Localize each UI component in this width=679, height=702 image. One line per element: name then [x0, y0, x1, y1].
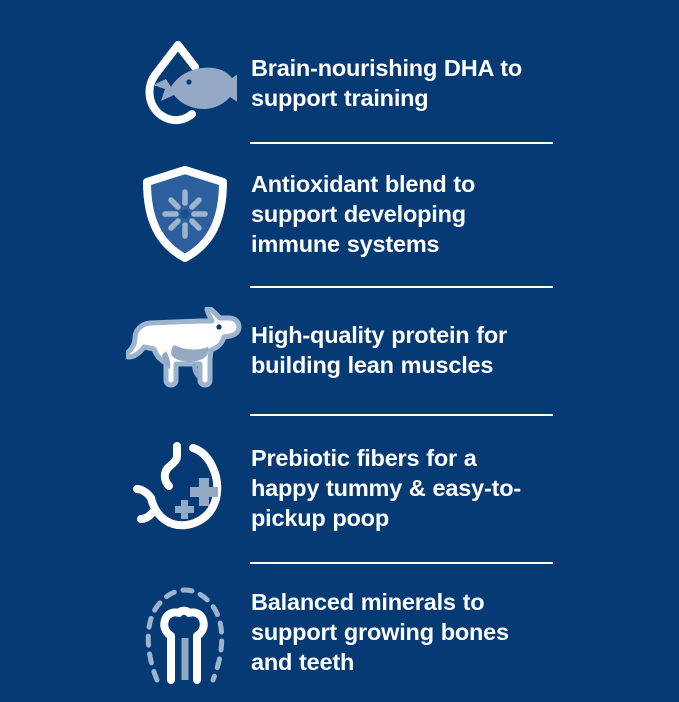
- feature-text-minerals: Balanced minerals to support growing bon…: [251, 587, 551, 677]
- divider-3: [250, 414, 553, 416]
- feature-text-antioxidant: Antioxidant blend to support developing …: [251, 169, 551, 259]
- divider-4: [250, 562, 553, 564]
- icon-cell: [118, 562, 251, 702]
- text-cell: Prebiotic fibers for a happy tummy & eas…: [251, 414, 679, 562]
- stomach-plus-icon: [133, 438, 237, 538]
- shield-burst-icon: [135, 162, 235, 266]
- divider-2: [250, 286, 553, 288]
- icon-cell: [118, 24, 251, 142]
- text-cell: Antioxidant blend to support developing …: [251, 142, 679, 286]
- icon-cell: [118, 414, 251, 562]
- feature-row-dha: Brain-nourishing DHA to support training: [0, 24, 679, 142]
- feature-row-prebiotic: Prebiotic fibers for a happy tummy & eas…: [0, 414, 679, 562]
- text-cell: High-quality protein for building lean m…: [251, 286, 679, 414]
- feature-text-dha: Brain-nourishing DHA to support training: [251, 53, 551, 113]
- feature-row-minerals: Balanced minerals to support growing bon…: [0, 562, 679, 702]
- feature-row-protein: High-quality protein for building lean m…: [0, 286, 679, 414]
- divider-1: [250, 142, 553, 144]
- feature-text-protein: High-quality protein for building lean m…: [251, 320, 551, 380]
- icon-cell: [118, 286, 251, 414]
- feature-text-prebiotic: Prebiotic fibers for a happy tummy & eas…: [251, 443, 551, 533]
- text-cell: Brain-nourishing DHA to support training: [251, 24, 679, 142]
- dog-muscle-icon: [126, 307, 244, 393]
- icon-cell: [118, 142, 251, 286]
- text-cell: Balanced minerals to support growing bon…: [251, 562, 679, 702]
- feature-row-antioxidant: Antioxidant blend to support developing …: [0, 142, 679, 286]
- droplet-fish-icon: [133, 35, 237, 131]
- product-benefits-panel: Brain-nourishing DHA to support training: [0, 0, 679, 679]
- feature-list: Brain-nourishing DHA to support training: [0, 0, 679, 679]
- bone-icon: [137, 580, 233, 684]
